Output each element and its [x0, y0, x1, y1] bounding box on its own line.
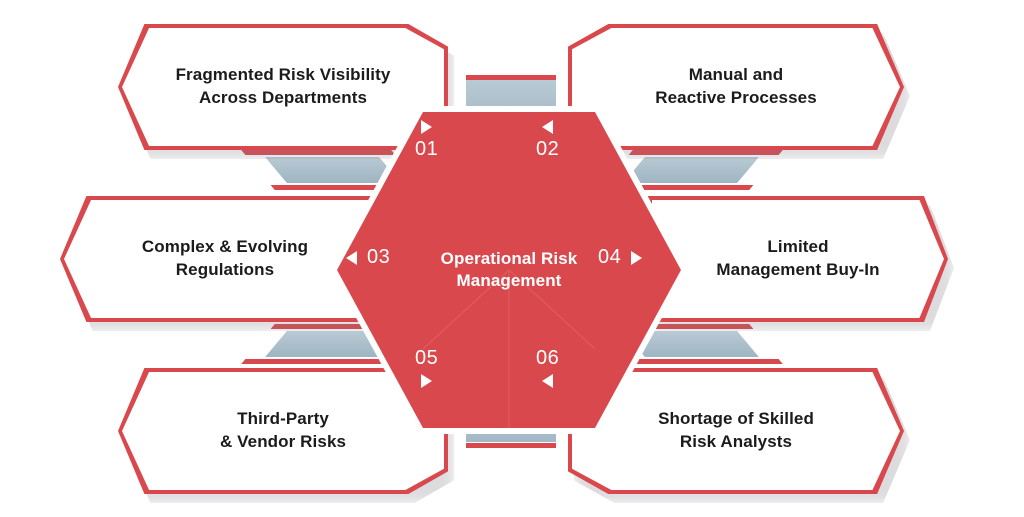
hex-node-04[interactable]: 04 — [598, 246, 642, 269]
card-node-04[interactable]: Limited Management Buy-In — [648, 196, 948, 322]
triangle-left-icon — [542, 374, 553, 388]
card-label-line-2: Risk Analysts — [680, 432, 792, 451]
card-label: Limited Management Buy-In — [716, 236, 879, 282]
hex-node-06[interactable]: 06 — [536, 347, 559, 388]
hex-node-number: 05 — [415, 347, 438, 370]
hex-node-number: 02 — [536, 138, 559, 161]
card-label-line-2: Regulations — [176, 260, 274, 279]
card-surface: Limited Management Buy-In — [652, 200, 944, 318]
hex-node-number: 01 — [415, 138, 438, 161]
card-label: Fragmented Risk Visibility Across Depart… — [176, 64, 391, 110]
connector-rule — [466, 75, 556, 80]
hexagon-seam-lines — [337, 112, 681, 428]
triangle-right-icon — [421, 120, 432, 134]
triangle-right-icon — [421, 374, 432, 388]
hex-node-05[interactable]: 05 — [415, 347, 438, 388]
card-label-line-2: Reactive Processes — [655, 88, 817, 107]
connector-rule — [466, 443, 556, 448]
card-label-line-1: Limited — [767, 237, 828, 256]
triangle-right-icon — [631, 251, 642, 265]
triangle-left-icon — [346, 251, 357, 265]
card-label-line-1: Manual and — [689, 65, 784, 84]
card-label: Third-Party & Vendor Risks — [220, 408, 346, 454]
hex-node-number: 04 — [598, 246, 621, 269]
hex-node-03[interactable]: 03 — [346, 246, 390, 269]
card-label-line-2: Across Departments — [199, 88, 367, 107]
hex-node-01[interactable]: 01 — [415, 120, 438, 161]
card-label-line-1: Fragmented Risk Visibility — [176, 65, 391, 84]
card-label-line-2: & Vendor Risks — [220, 432, 346, 451]
hex-node-number: 03 — [367, 246, 390, 269]
card-label: Manual and Reactive Processes — [655, 64, 817, 110]
card-label-line-1: Complex & Evolving — [142, 237, 308, 256]
hex-node-number: 06 — [536, 347, 559, 370]
diagram-canvas: Fragmented Risk Visibility Across Depart… — [0, 0, 1024, 517]
hex-node-02[interactable]: 02 — [536, 120, 559, 161]
card-label: Complex & Evolving Regulations — [142, 236, 308, 282]
card-label-line-1: Third-Party — [237, 409, 329, 428]
triangle-left-icon — [542, 120, 553, 134]
card-label-line-2: Management Buy-In — [716, 260, 879, 279]
central-hexagon[interactable]: Operational Risk Management — [330, 106, 688, 434]
